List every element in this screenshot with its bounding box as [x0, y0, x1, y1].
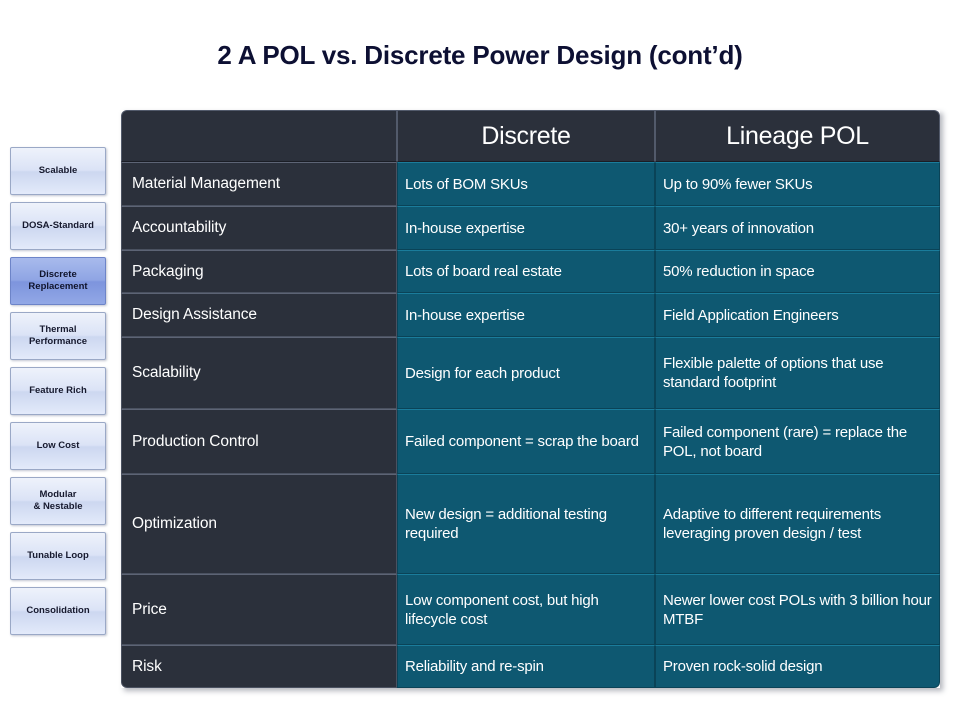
sidebar-item-label: Consolidation	[24, 605, 91, 617]
table-cell-discrete: Reliability and re-spin	[397, 645, 655, 688]
sidebar-item-label: Modular & Nestable	[31, 489, 84, 513]
table-header-row: Discrete Lineage POL	[121, 110, 940, 162]
table-header: Discrete Lineage POL	[121, 110, 940, 162]
table-cell-lineage-pol: Newer lower cost POLs with 3 billion hou…	[655, 574, 940, 645]
sidebar-item-thermal-performance[interactable]: Thermal Performance	[10, 312, 106, 360]
sidebar-item-label: Thermal Performance	[27, 324, 89, 348]
table-row: OptimizationNew design = additional test…	[121, 474, 940, 574]
sidebar-nav: ScalableDOSA-StandardDiscrete Replacemen…	[10, 147, 108, 642]
table-cell-category: Packaging	[121, 250, 397, 293]
table-cell-lineage-pol: Field Application Engineers	[655, 293, 940, 337]
table-cell-lineage-pol: Flexible palette of options that use sta…	[655, 337, 940, 409]
table-cell-lineage-pol: 30+ years of innovation	[655, 206, 940, 250]
table-cell-lineage-pol: Proven rock-solid design	[655, 645, 940, 688]
sidebar-item-tunable-loop[interactable]: Tunable Loop	[10, 532, 106, 580]
sidebar-item-label: Scalable	[37, 165, 80, 177]
sidebar-item-label: Discrete Replacement	[26, 269, 89, 293]
sidebar-item-label: Feature Rich	[27, 385, 89, 397]
sidebar-item-low-cost[interactable]: Low Cost	[10, 422, 106, 470]
table-cell-discrete: New design = additional testing required	[397, 474, 655, 574]
table-cell-discrete: Failed component = scrap the board	[397, 409, 655, 474]
table-cell-discrete: In-house expertise	[397, 206, 655, 250]
table-cell-category: Scalability	[121, 337, 397, 409]
comparison-table-container: Discrete Lineage POL Material Management…	[121, 110, 940, 688]
table-row: Production ControlFailed component = scr…	[121, 409, 940, 474]
table-cell-discrete: Lots of BOM SKUs	[397, 162, 655, 206]
comparison-table: Discrete Lineage POL Material Management…	[121, 110, 940, 688]
sidebar-item-scalable[interactable]: Scalable	[10, 147, 106, 195]
table-row: PackagingLots of board real estate50% re…	[121, 250, 940, 293]
table-cell-lineage-pol: Failed component (rare) = replace the PO…	[655, 409, 940, 474]
table-cell-lineage-pol: Up to 90% fewer SKUs	[655, 162, 940, 206]
table-row: ScalabilityDesign for each productFlexib…	[121, 337, 940, 409]
table-cell-discrete: Lots of board real estate	[397, 250, 655, 293]
sidebar-item-modular-nestable[interactable]: Modular & Nestable	[10, 477, 106, 525]
sidebar-item-dosa-standard[interactable]: DOSA-Standard	[10, 202, 106, 250]
table-header-discrete: Discrete	[397, 110, 655, 162]
table-cell-discrete: Low component cost, but high lifecycle c…	[397, 574, 655, 645]
sidebar-item-discrete-replacement[interactable]: Discrete Replacement	[10, 257, 106, 305]
sidebar-item-label: Low Cost	[35, 440, 82, 452]
sidebar-item-label: Tunable Loop	[25, 550, 91, 562]
table-cell-lineage-pol: Adaptive to different requirements lever…	[655, 474, 940, 574]
table-body: Material ManagementLots of BOM SKUsUp to…	[121, 162, 940, 688]
page-title: 2 A POL vs. Discrete Power Design (cont’…	[0, 40, 960, 71]
sidebar-item-feature-rich[interactable]: Feature Rich	[10, 367, 106, 415]
table-header-lineage-pol: Lineage POL	[655, 110, 940, 162]
table-row: Material ManagementLots of BOM SKUsUp to…	[121, 162, 940, 206]
table-row: RiskReliability and re-spinProven rock-s…	[121, 645, 940, 688]
table-cell-category: Accountability	[121, 206, 397, 250]
table-cell-category: Risk	[121, 645, 397, 688]
table-header-blank	[121, 110, 397, 162]
table-cell-category: Design Assistance	[121, 293, 397, 337]
table-cell-category: Price	[121, 574, 397, 645]
sidebar-item-label: DOSA-Standard	[20, 220, 96, 232]
table-cell-category: Optimization	[121, 474, 397, 574]
table-cell-lineage-pol: 50% reduction in space	[655, 250, 940, 293]
table-row: Design AssistanceIn-house expertiseField…	[121, 293, 940, 337]
table-cell-category: Material Management	[121, 162, 397, 206]
sidebar-item-consolidation[interactable]: Consolidation	[10, 587, 106, 635]
table-cell-category: Production Control	[121, 409, 397, 474]
table-row: AccountabilityIn-house expertise30+ year…	[121, 206, 940, 250]
table-cell-discrete: In-house expertise	[397, 293, 655, 337]
table-cell-discrete: Design for each product	[397, 337, 655, 409]
table-row: PriceLow component cost, but high lifecy…	[121, 574, 940, 645]
